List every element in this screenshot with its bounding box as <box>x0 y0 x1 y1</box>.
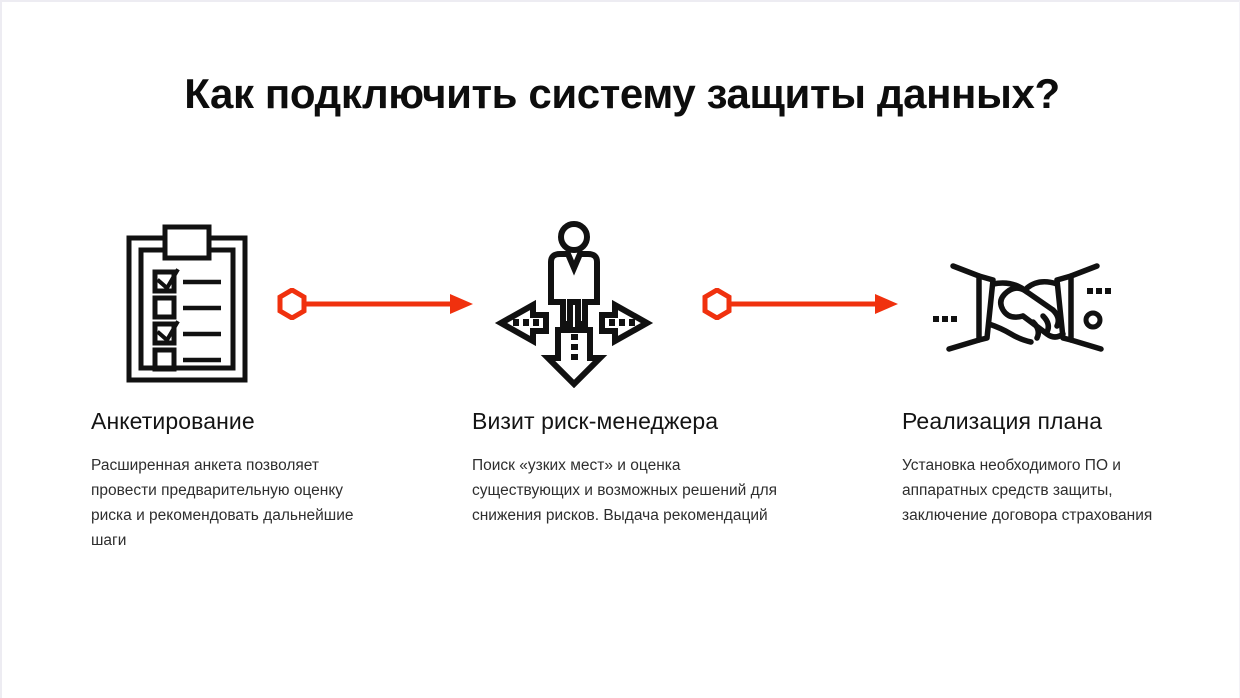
hexagon-arrow-right-icon <box>702 288 902 325</box>
step-heading: Визит риск-менеджера <box>472 408 792 435</box>
person-multidirectional-arrows-icon <box>488 220 660 393</box>
step-body: Поиск «узких мест» и оценка существующих… <box>472 453 792 528</box>
slide-canvas: Как подключить систему защиты данных? <box>0 0 1240 698</box>
step-column-2: Визит риск-менеджера Поиск «узких мест» … <box>472 408 792 528</box>
step-column-1: Анкетирование Расширенная анкета позволя… <box>91 408 381 553</box>
step-heading: Реализация плана <box>902 408 1172 435</box>
step-body: Расширенная анкета позволяет провести пр… <box>91 453 381 553</box>
step-body: Установка необходимого ПО и аппаратных с… <box>902 453 1172 528</box>
step-column-3: Реализация плана Установка необходимого … <box>902 408 1172 528</box>
clipboard-checklist-icon <box>125 224 249 389</box>
hexagon-arrow-right-icon <box>277 288 477 325</box>
handshake-icon <box>927 254 1123 369</box>
step-heading: Анкетирование <box>91 408 381 435</box>
page-title: Как подключить систему защиты данных? <box>2 70 1240 118</box>
